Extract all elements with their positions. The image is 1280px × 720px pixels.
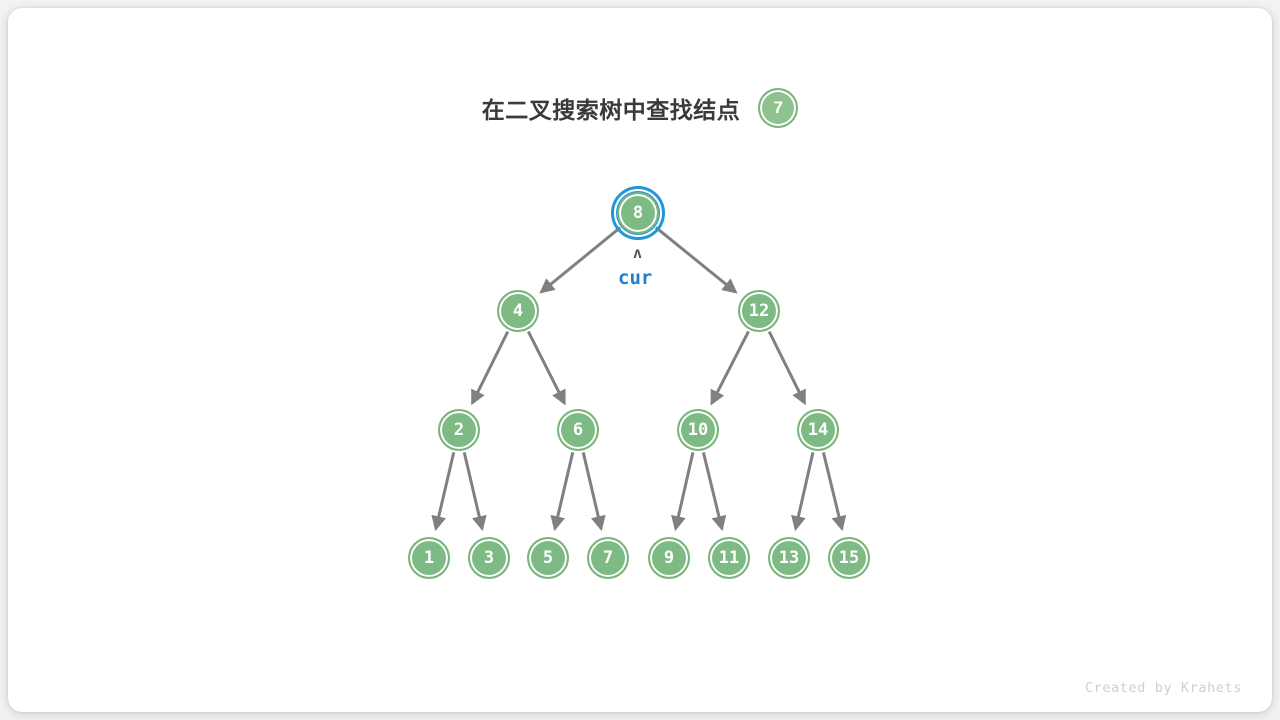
tree-node-9: 9 xyxy=(648,537,690,579)
tree-node-10: 10 xyxy=(677,409,719,451)
tree-node-2: 2 xyxy=(438,409,480,451)
cur-pointer-label: cur xyxy=(618,269,652,288)
diagram-canvas: 在二叉搜索树中查找结点 7 841226101413579111315 ʌ cu… xyxy=(0,0,1280,720)
tree-edges-layer xyxy=(0,0,1280,720)
tree-node-1: 1 xyxy=(408,537,450,579)
tree-edge xyxy=(823,452,842,528)
tree-node-14: 14 xyxy=(797,409,839,451)
tree-node-13: 13 xyxy=(768,537,810,579)
tree-edge xyxy=(583,452,601,528)
tree-node-6: 6 xyxy=(557,409,599,451)
tree-edge xyxy=(769,332,804,404)
tree-edge xyxy=(676,452,693,528)
tree-edge xyxy=(703,452,722,528)
tree-node-5: 5 xyxy=(527,537,569,579)
tree-edge xyxy=(712,331,749,403)
tree-edge xyxy=(436,452,454,528)
tree-node-8: 8 xyxy=(617,192,659,234)
tree-edge xyxy=(555,452,573,528)
tree-node-7: 7 xyxy=(587,537,629,579)
tree-edge xyxy=(656,227,736,292)
footer-credit: Created by Krahets xyxy=(1085,680,1242,696)
tree-edge xyxy=(464,452,482,528)
tree-node-11: 11 xyxy=(708,537,750,579)
tree-node-4: 4 xyxy=(497,290,539,332)
tree-edge xyxy=(528,332,564,404)
tree-edge xyxy=(472,332,507,404)
tree-edge xyxy=(796,452,813,528)
tree-edge xyxy=(541,228,620,292)
cur-caret-icon: ʌ xyxy=(633,246,642,261)
tree-node-15: 15 xyxy=(828,537,870,579)
tree-node-12: 12 xyxy=(738,290,780,332)
tree-node-3: 3 xyxy=(468,537,510,579)
